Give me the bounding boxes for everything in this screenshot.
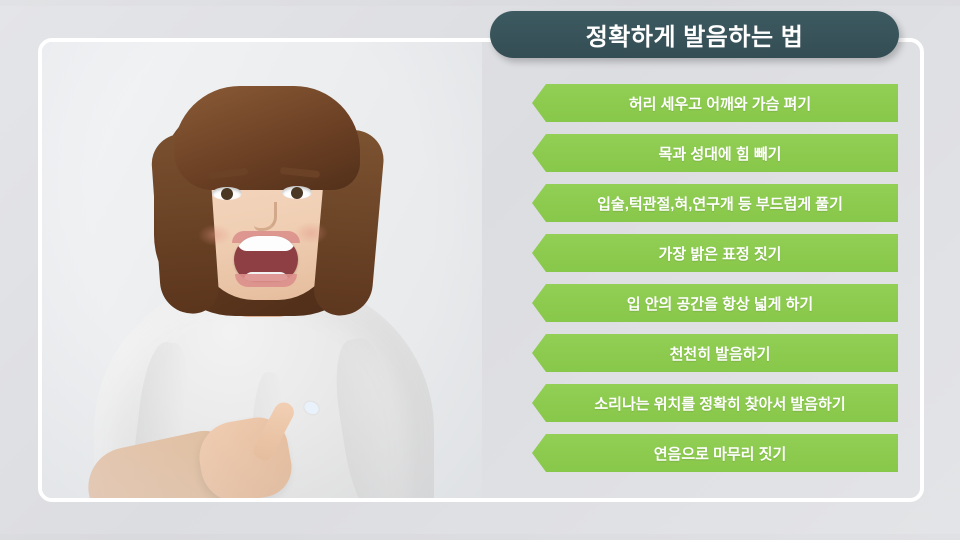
step-item-8[interactable]: 연음으로 마무리 짓기 — [532, 434, 898, 472]
eye-right — [282, 186, 312, 199]
photo-panel — [42, 42, 482, 498]
eye-left — [212, 187, 242, 200]
step-label: 입술,턱관절,혀,연구개 등 부드럽게 풀기 — [587, 193, 843, 214]
step-label: 허리 세우고 어깨와 가슴 펴기 — [619, 93, 811, 114]
upper-teeth — [237, 236, 295, 251]
step-label: 천천히 발음하기 — [660, 343, 771, 364]
step-item-2[interactable]: 목과 성대에 힘 빼기 — [532, 134, 898, 172]
pupil-left — [221, 188, 233, 200]
slide-edge-bottom — [0, 534, 960, 540]
step-item-7[interactable]: 소리나는 위치를 정확히 찾아서 발음하기 — [532, 384, 898, 422]
step-item-1[interactable]: 허리 세우고 어깨와 가슴 펴기 — [532, 84, 898, 122]
step-label: 연음으로 마무리 짓기 — [644, 443, 787, 464]
step-label: 입 안의 공간을 항상 넓게 하기 — [617, 293, 813, 314]
lower-lip — [235, 274, 297, 287]
steps-list: 허리 세우고 어깨와 가슴 펴기 목과 성대에 힘 빼기 입술,턱관절,혀,연구… — [532, 84, 900, 472]
step-item-4[interactable]: 가장 밝은 표정 짓기 — [532, 234, 898, 272]
person-illustration — [42, 42, 482, 498]
slide-root: 정확하게 발음하는 법 허리 세우고 어깨와 가슴 펴기 목과 성대에 힘 빼기… — [0, 0, 960, 540]
step-label: 소리나는 위치를 정확히 찾아서 발음하기 — [584, 393, 845, 414]
step-label: 가장 밝은 표정 짓기 — [649, 243, 782, 264]
page-title: 정확하게 발음하는 법 — [586, 17, 804, 52]
step-item-3[interactable]: 입술,턱관절,혀,연구개 등 부드럽게 풀기 — [532, 184, 898, 222]
step-item-5[interactable]: 입 안의 공간을 항상 넓게 하기 — [532, 284, 898, 322]
hair-fringe-shape — [174, 86, 360, 190]
pupil-right — [291, 187, 303, 199]
step-label: 목과 성대에 힘 빼기 — [649, 143, 782, 164]
cheek-left — [198, 224, 232, 246]
photo-image — [42, 42, 482, 498]
step-item-6[interactable]: 천천히 발음하기 — [532, 334, 898, 372]
slide-edge-top — [0, 0, 960, 6]
slide-title-banner: 정확하게 발음하는 법 — [490, 11, 899, 58]
